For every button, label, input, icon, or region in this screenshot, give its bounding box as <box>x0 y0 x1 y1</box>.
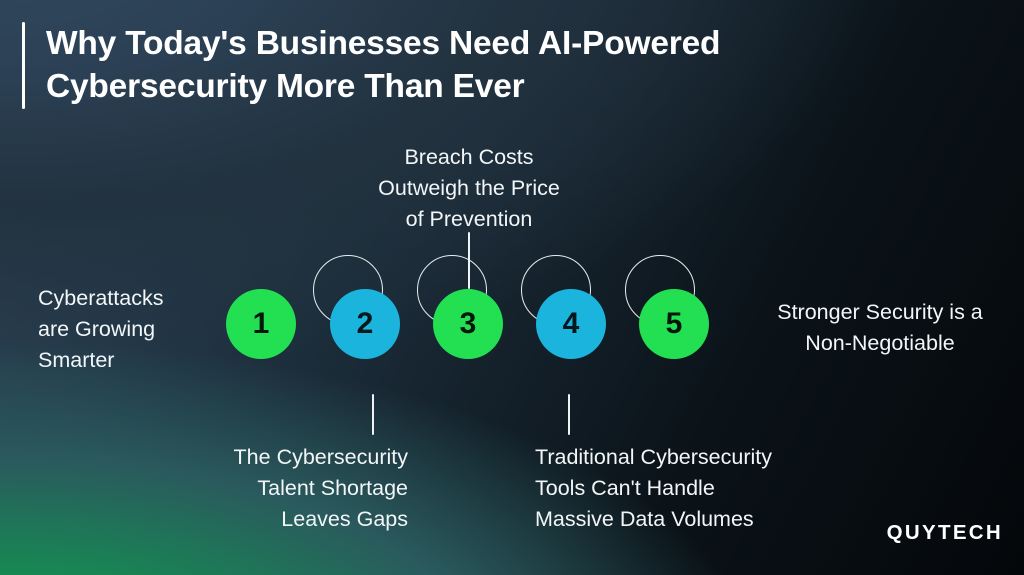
infographic-canvas: Why Today's Businesses Need AI-Powered C… <box>0 0 1024 575</box>
step-node-4[interactable]: 4 <box>536 289 606 359</box>
connector-stem-step-4 <box>568 394 570 435</box>
step-label-1: Cyberattacks are Growing Smarter <box>38 283 223 377</box>
connector-stem-step-3 <box>468 232 470 289</box>
step-node-1[interactable]: 1 <box>226 289 296 359</box>
title-accent-bar <box>22 22 25 109</box>
step-label-3: Breach Costs Outweigh the Price of Preve… <box>338 142 600 236</box>
step-node-1-number: 1 <box>253 309 270 339</box>
step-label-4: Traditional Cybersecurity Tools Can't Ha… <box>535 442 835 536</box>
step-node-3-number: 3 <box>460 309 477 339</box>
connector-stem-step-2 <box>372 394 374 435</box>
step-node-3[interactable]: 3 <box>433 289 503 359</box>
step-node-5[interactable]: 5 <box>639 289 709 359</box>
step-node-5-number: 5 <box>666 309 683 339</box>
step-label-5: Stronger Security is a Non-Negotiable <box>735 297 1024 359</box>
step-node-2-number: 2 <box>357 309 374 339</box>
step-node-4-number: 4 <box>563 309 580 339</box>
step-node-2[interactable]: 2 <box>330 289 400 359</box>
step-label-2: The Cybersecurity Talent Shortage Leaves… <box>140 442 408 536</box>
title-block: Why Today's Businesses Need AI-Powered C… <box>22 22 720 109</box>
page-title: Why Today's Businesses Need AI-Powered C… <box>46 22 720 109</box>
quytech-logo: QUYTECH <box>887 521 1003 545</box>
